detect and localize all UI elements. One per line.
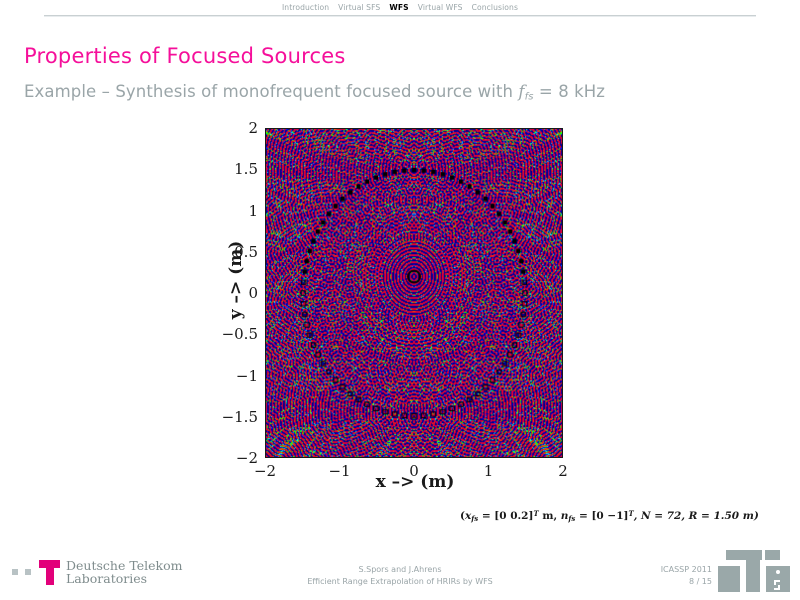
- header-divider: [44, 15, 756, 17]
- nav-item-wfs[interactable]: WFS: [389, 3, 408, 13]
- subtitle-text: Example – Synthesis of monofrequent focu…: [24, 82, 518, 101]
- y-tick-label: 0.5: [234, 243, 258, 261]
- telekom-wordmark: Deutsche Telekom Laboratories: [66, 559, 182, 585]
- y-tick-label: −1.5: [222, 408, 258, 426]
- figure-caption: (xfs = [0 0.2]T m, nfs = [0 −1]T, N = 72…: [460, 509, 759, 523]
- figure-sound-field: y –> (m) −2−1.5−1−0.500.511.52 −2−1012 x…: [190, 120, 620, 510]
- y-tick-label: −1: [236, 367, 258, 385]
- deutsche-telekom-logo: Deutsche Telekom Laboratories: [12, 555, 182, 589]
- footer-center-block: S.Spors and J.Ahrens Efficient Range Ext…: [250, 564, 550, 588]
- footer-right-block: ICASSP 2011 8 / 15: [661, 564, 712, 588]
- subtitle-symbol-subscript: fs: [525, 92, 534, 103]
- page-title: Properties of Focused Sources: [24, 44, 346, 68]
- telekom-t-bar-vertical: [46, 560, 54, 585]
- caption-x-value: = [0 0.2]: [478, 510, 533, 522]
- slide-footer: Deutsche Telekom Laboratories S.Spors an…: [0, 540, 800, 600]
- footer-authors: S.Spors and J.Ahrens: [250, 564, 550, 576]
- footer-page-number: 8 / 15: [661, 576, 712, 588]
- y-axis-ticks: −2−1.5−1−0.500.511.52: [204, 120, 262, 458]
- tu-berlin-logo: [716, 548, 792, 594]
- sound-field-heatmap: [266, 129, 562, 457]
- nav-item-virtual-sfs[interactable]: Virtual SFS: [338, 3, 380, 13]
- caption-tail: , N = 72, R = 1.50 m): [634, 510, 759, 522]
- footer-paper-title: Efficient Range Extrapolation of HRIRs b…: [250, 576, 550, 588]
- x-axis-label: x –> (m): [265, 472, 565, 492]
- telekom-wordmark-line2: Laboratories: [66, 572, 182, 585]
- section-navigation: Introduction Virtual SFS WFS Virtual WFS…: [0, 0, 800, 20]
- plot-area: [265, 128, 563, 458]
- caption-x-unit: m,: [539, 510, 561, 522]
- y-tick-label: 1: [248, 202, 258, 220]
- y-tick-label: 1.5: [234, 160, 258, 178]
- y-tick-label: 2: [248, 119, 258, 137]
- telekom-square-icon-1: [12, 569, 18, 575]
- y-tick-label: 0: [248, 284, 258, 302]
- nav-item-conclusions[interactable]: Conclusions: [472, 3, 518, 13]
- telekom-square-icon-2: [25, 569, 31, 575]
- footer-conference: ICASSP 2011: [661, 564, 712, 576]
- y-tick-label: −0.5: [222, 325, 258, 343]
- subtitle-value: = 8 kHz: [534, 82, 605, 101]
- nav-item-virtual-wfs[interactable]: Virtual WFS: [418, 3, 463, 13]
- caption-n-value: = [0 −1]: [575, 510, 628, 522]
- telekom-t-icon: [39, 560, 60, 585]
- nav-item-introduction[interactable]: Introduction: [282, 3, 329, 13]
- page-subtitle: Example – Synthesis of monofrequent focu…: [24, 82, 605, 103]
